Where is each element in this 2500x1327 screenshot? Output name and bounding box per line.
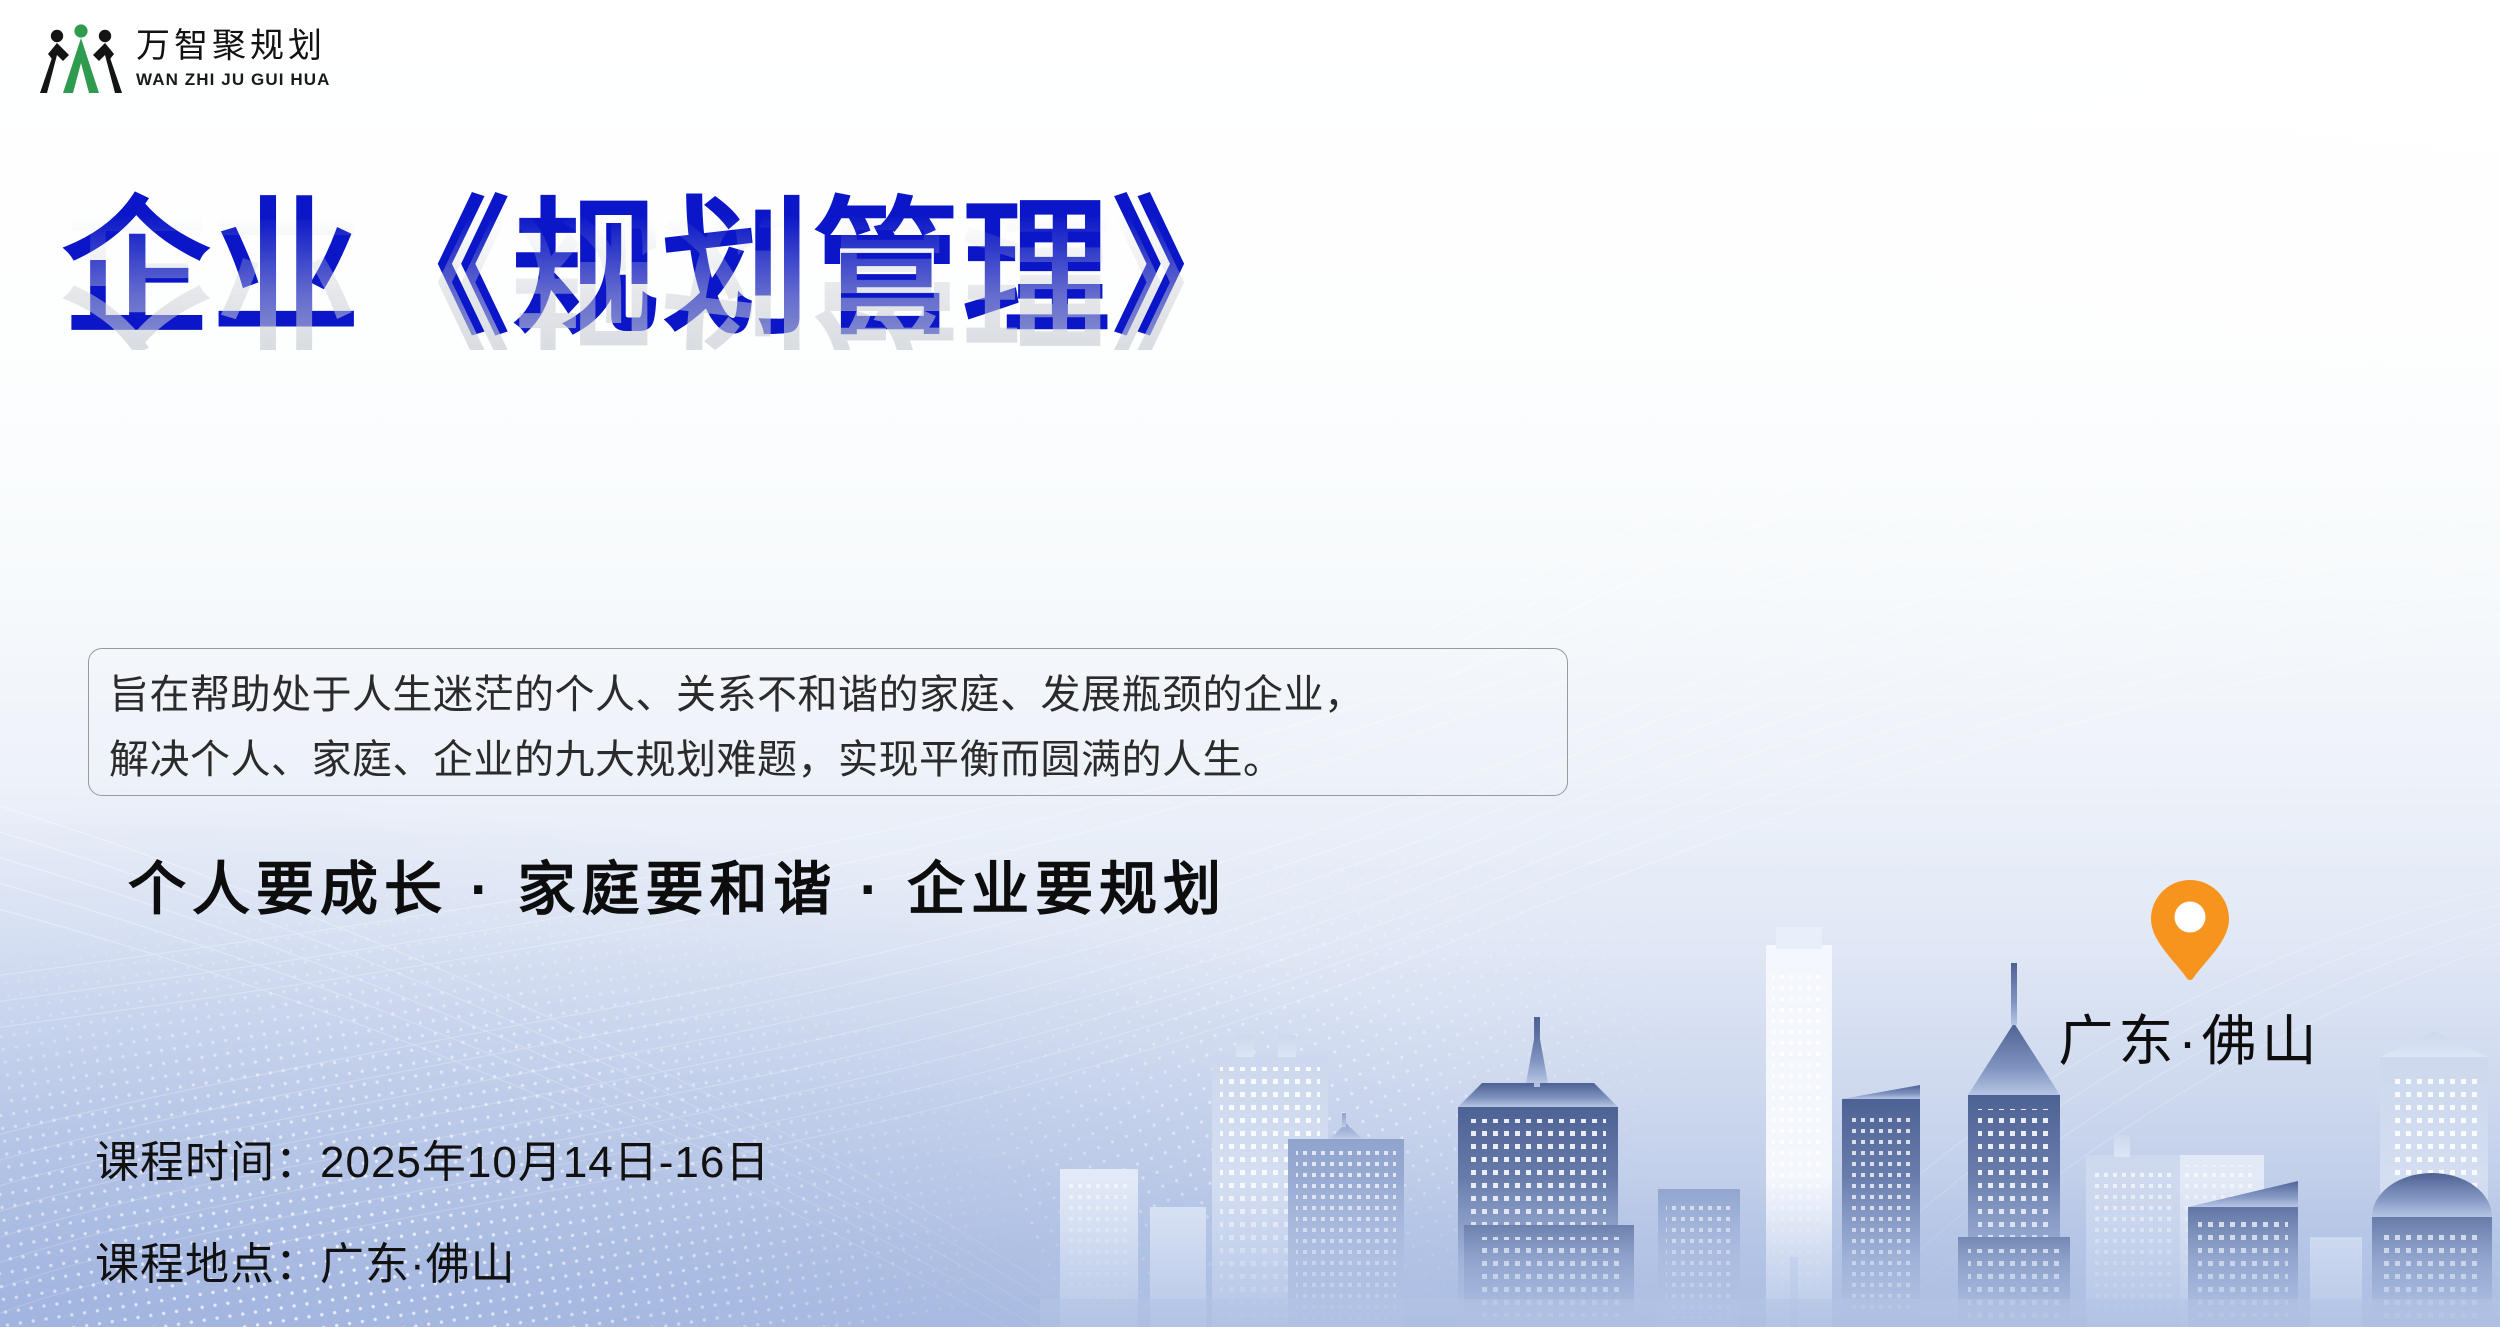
description-line-1: 旨在帮助处于人生迷茫的个人、关系不和谐的家庭、发展瓶颈的企业， <box>109 663 1545 728</box>
description-line-2: 解决个人、家庭、企业的九大规划难题，实现平衡而圆满的人生。 <box>109 728 1545 793</box>
three-people-mountain-logo-icon <box>40 22 122 96</box>
brand-wordmark: 万智聚规划 WAN ZHI JU GUI HUA <box>136 30 331 88</box>
location-label: 广东·佛山 <box>2040 996 2340 1076</box>
brand-logo: 万智聚规划 WAN ZHI JU GUI HUA <box>40 22 331 96</box>
hero-slogan: 个人要成长 · 家庭要和谐 · 企业要规划 <box>128 842 1227 926</box>
map-pin-icon <box>2148 878 2232 982</box>
course-time-row: 课程时间：2025年10月14日-16日 <box>95 1126 770 1190</box>
location-badge: 广东·佛山 <box>2040 878 2340 1076</box>
course-place-row: 课程地点：广东·佛山 <box>95 1228 770 1292</box>
description-box: 旨在帮助处于人生迷茫的个人、关系不和谐的家庭、发展瓶颈的企业， 解决个人、家庭、… <box>88 648 1568 796</box>
brand-name-cn: 万智聚规划 <box>136 30 331 64</box>
course-meta: 课程时间：2025年10月14日-16日 课程地点：广东·佛山 <box>95 1126 770 1292</box>
poster-canvas: 万智聚规划 WAN ZHI JU GUI HUA 企业《规划管理》 企业《规划管… <box>0 0 2500 1327</box>
page-title: 企业《规划管理》 <box>62 196 1562 344</box>
hero-title-block: 企业《规划管理》 企业《规划管理》 <box>62 196 1562 498</box>
brand-name-pinyin: WAN ZHI JU GUI HUA <box>136 71 331 88</box>
